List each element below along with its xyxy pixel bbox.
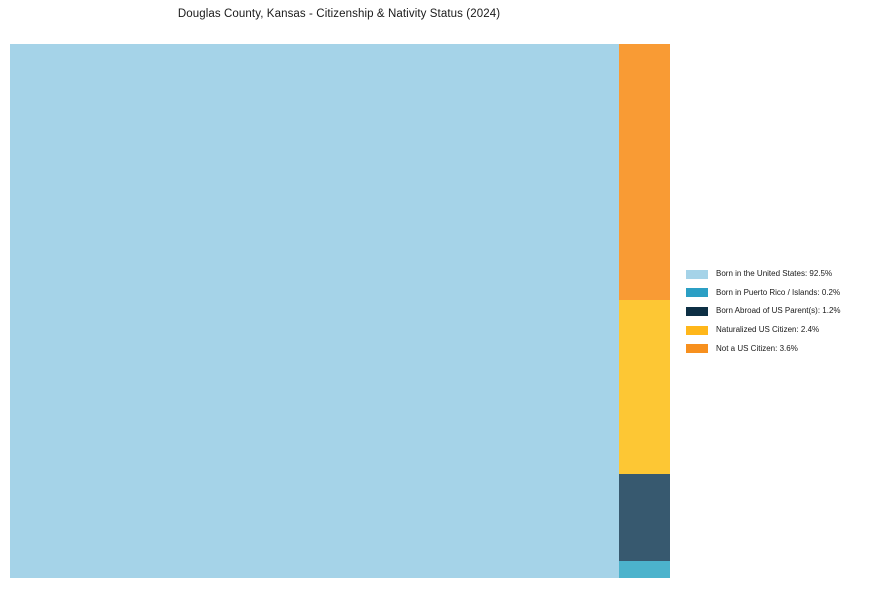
treemap-tile-born-in-puerto-rico[interactable] xyxy=(619,561,670,578)
legend-item[interactable]: Born in the United States: 92.5% xyxy=(686,265,881,284)
legend-item[interactable]: Naturalized US Citizen: 2.4% xyxy=(686,321,881,340)
legend-item-label: Naturalized US Citizen: 2.4% xyxy=(716,326,819,334)
legend-color-swatch xyxy=(686,288,708,297)
legend-color-swatch xyxy=(686,326,708,335)
legend-color-swatch xyxy=(686,270,708,279)
legend-color-swatch xyxy=(686,307,708,316)
page-title: Douglas County, Kansas - Citizenship & N… xyxy=(0,8,678,20)
chart-legend: Born in the United States: 92.5%Born in … xyxy=(686,265,881,358)
treemap-tile-not-a-us-citizen[interactable] xyxy=(619,44,670,300)
legend-item-label: Not a US Citizen: 3.6% xyxy=(716,345,798,353)
treemap-tile-born-abroad-of-us-parents[interactable] xyxy=(619,474,670,561)
legend-item[interactable]: Born in Puerto Rico / Islands: 0.2% xyxy=(686,284,881,303)
legend-item[interactable]: Born Abroad of US Parent(s): 1.2% xyxy=(686,302,881,321)
legend-item[interactable]: Not a US Citizen: 3.6% xyxy=(686,339,881,358)
treemap-tile-born-in-the-united-states[interactable] xyxy=(10,44,619,578)
treemap-figure: Douglas County, Kansas - Citizenship & N… xyxy=(0,0,889,590)
legend-item-label: Born in the United States: 92.5% xyxy=(716,270,832,278)
legend-item-label: Born in Puerto Rico / Islands: 0.2% xyxy=(716,289,840,297)
treemap-tile-naturalized-us-citizen[interactable] xyxy=(619,300,670,474)
treemap-plot-area xyxy=(10,44,670,578)
legend-color-swatch xyxy=(686,344,708,353)
legend-item-label: Born Abroad of US Parent(s): 1.2% xyxy=(716,307,841,315)
